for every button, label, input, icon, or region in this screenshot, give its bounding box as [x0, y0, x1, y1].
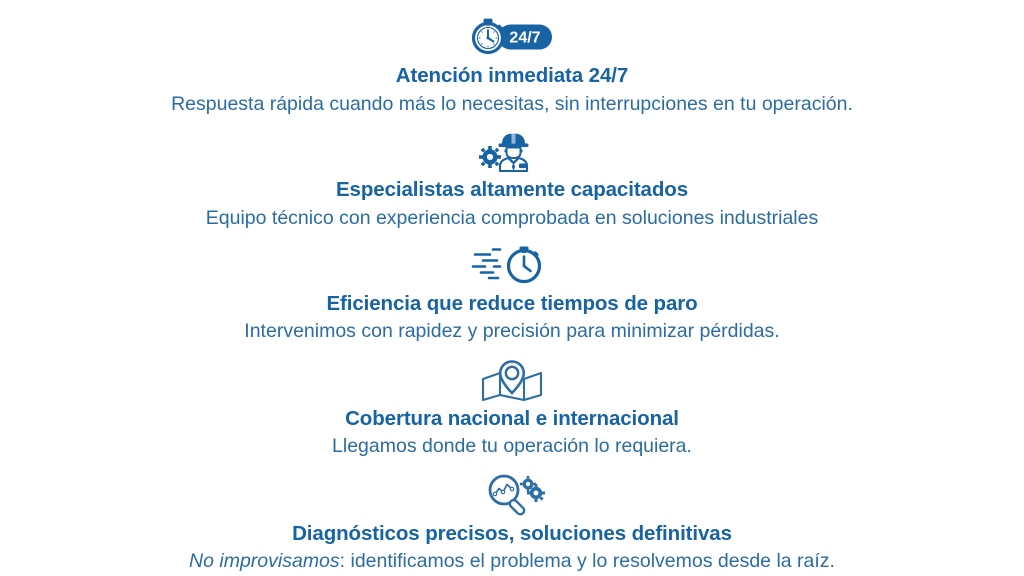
feature-title: Cobertura nacional e internacional — [345, 407, 679, 431]
feature-subtitle: No improvisamos: identificamos el proble… — [189, 550, 835, 573]
magnifier-chart-gears-icon — [474, 472, 550, 518]
feature-subtitle-rest: : identificamos el problema y lo resolve… — [340, 550, 835, 572]
feature-subtitle-emphasis: No improvisamos — [189, 550, 340, 572]
features-slide: 24/7 — [0, 0, 1024, 576]
feature-item-eficiencia: Eficiencia que reduce tiempos de paro In… — [0, 242, 1024, 344]
feature-subtitle: Intervenimos con rapidez y precisión par… — [244, 320, 779, 343]
feature-item-diagnosticos: Diagnósticos precisos, soluciones defini… — [0, 472, 1024, 574]
feature-subtitle: Respuesta rápida cuando más lo necesitas… — [171, 93, 853, 116]
stopwatch-24-7-icon: 24/7 — [464, 14, 560, 60]
svg-text:24/7: 24/7 — [509, 30, 540, 47]
feature-title: Diagnósticos precisos, soluciones defini… — [292, 522, 732, 546]
feature-title: Eficiencia que reduce tiempos de paro — [326, 292, 697, 316]
map-location-pin-icon — [477, 357, 547, 403]
feature-item-especialistas: Especialistas altamente capacitados Equi… — [0, 128, 1024, 230]
fast-clock-icon — [471, 242, 553, 288]
feature-title: Especialistas altamente capacitados — [336, 178, 688, 202]
feature-subtitle: Equipo técnico con experiencia comprobad… — [206, 207, 818, 230]
feature-title: Atención inmediata 24/7 — [396, 64, 628, 88]
feature-subtitle: Llegamos donde tu operación lo requiera. — [332, 435, 692, 458]
worker-hardhat-gear-icon — [472, 128, 552, 174]
feature-item-atencion-inmediata: 24/7 — [0, 14, 1024, 116]
feature-item-cobertura: Cobertura nacional e internacional Llega… — [0, 357, 1024, 459]
